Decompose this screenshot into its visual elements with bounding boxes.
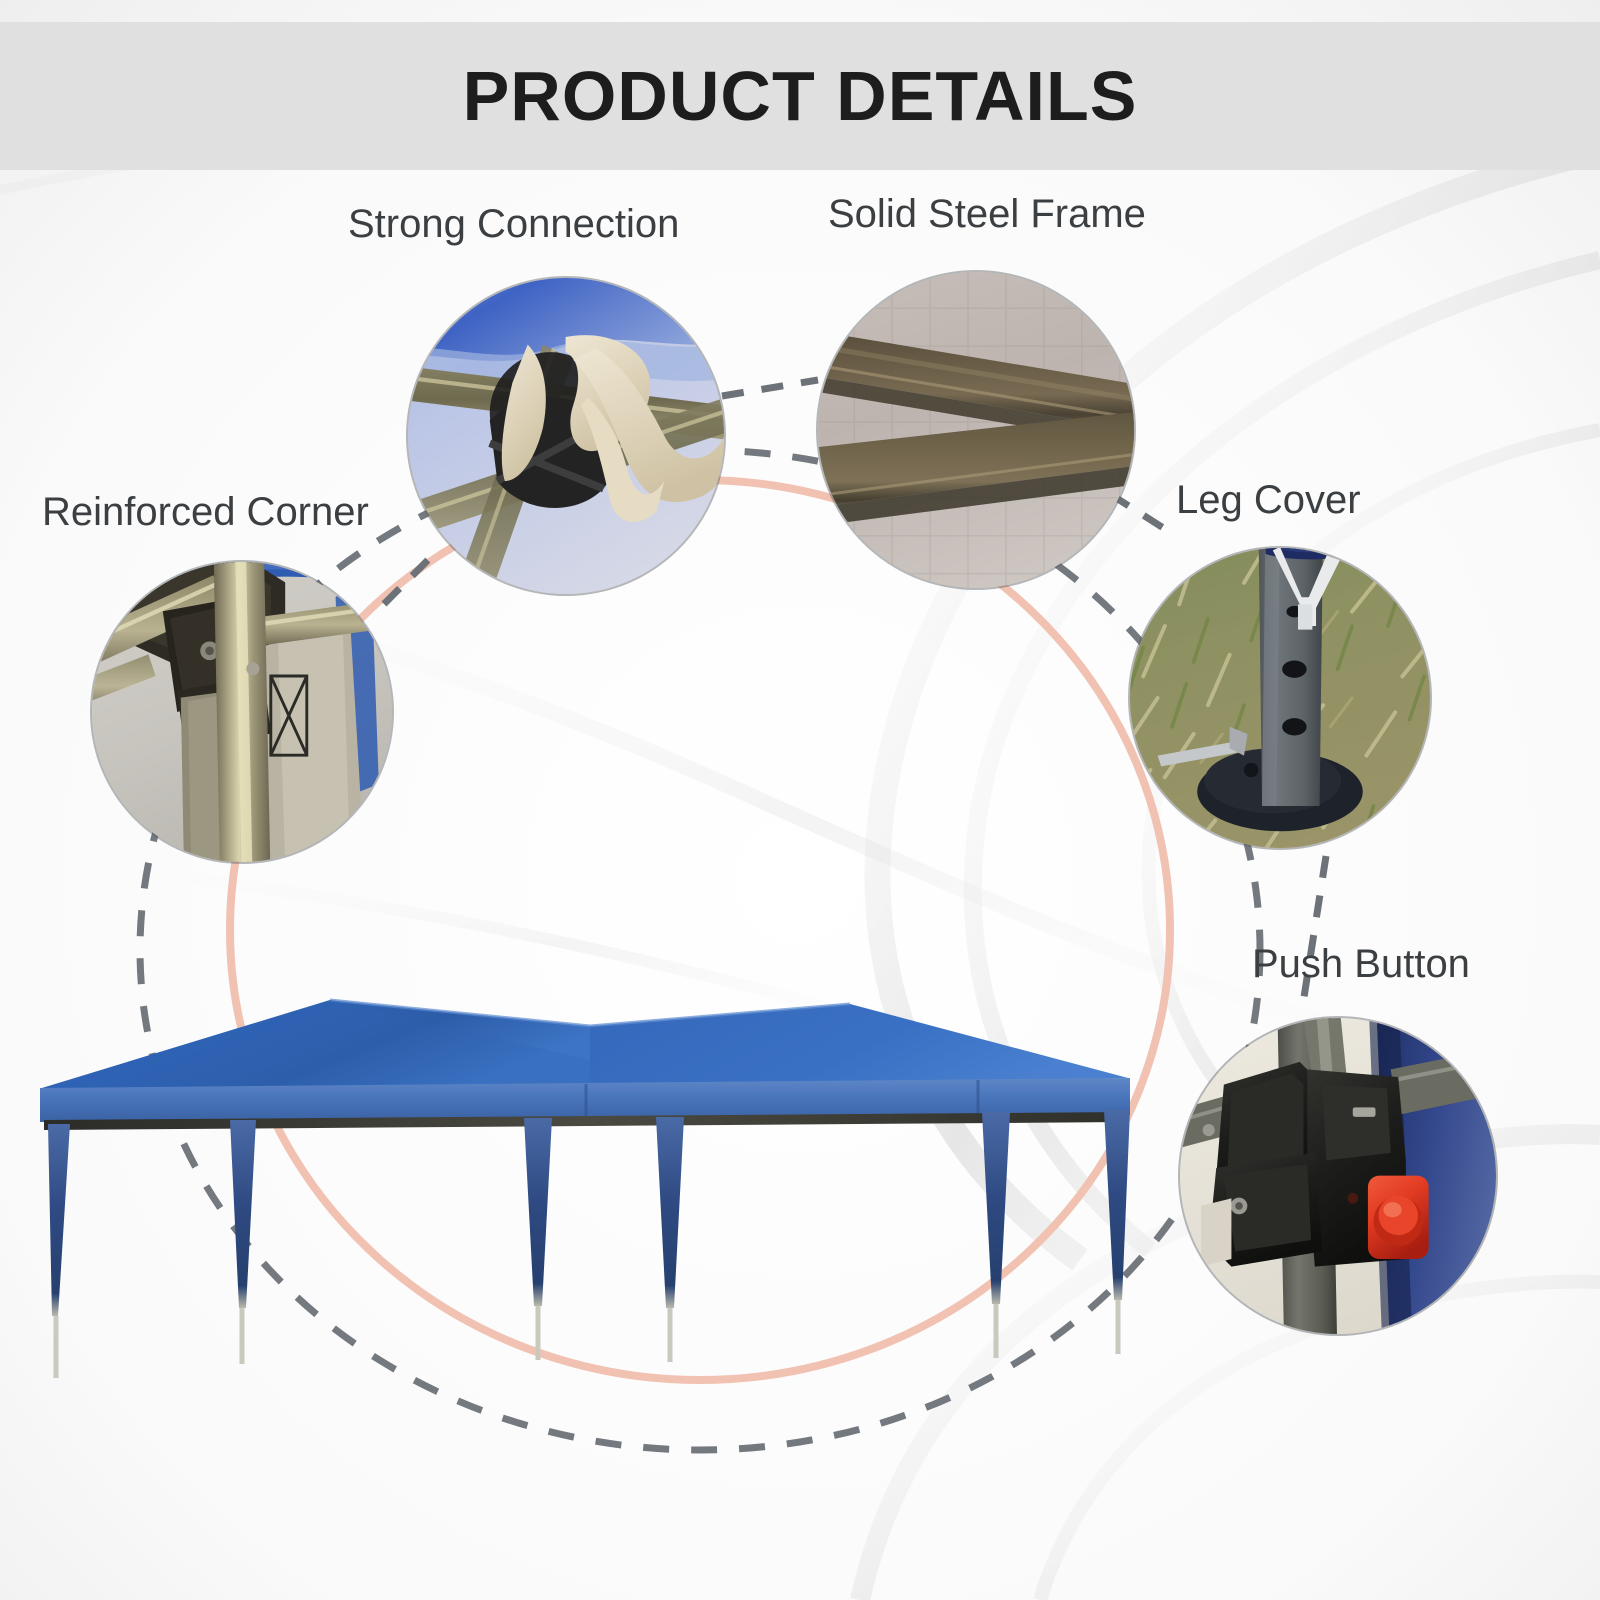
page-title: PRODUCT DETAILS <box>0 22 1600 170</box>
push-button-joint-photo <box>1180 1018 1496 1334</box>
connector-strong-to-steel <box>722 380 818 396</box>
callout-label-push-button: Push Button <box>1252 942 1470 987</box>
callout-label-solid-steel-frame: Solid Steel Frame <box>828 192 1146 237</box>
callout-label-strong-connection: Strong Connection <box>348 202 679 247</box>
steel-frame-bars-photo <box>818 272 1134 588</box>
hub-joint-with-straps-photo <box>408 278 724 594</box>
product-details-infographic: PRODUCT DETAILS <box>0 0 1600 1600</box>
inset-push-button <box>1180 1018 1496 1334</box>
inset-leg-cover <box>1130 548 1430 848</box>
product-image-canopy-tent <box>30 960 1140 1430</box>
inset-reinforced-corner <box>92 562 392 862</box>
inset-strong-connection <box>408 278 724 594</box>
leg-cover-on-grass-photo <box>1130 548 1430 848</box>
corner-bracket-photo <box>92 562 392 862</box>
inset-solid-steel-frame <box>818 272 1134 588</box>
callout-label-reinforced-corner: Reinforced Corner <box>42 490 369 535</box>
callout-label-leg-cover: Leg Cover <box>1176 478 1361 523</box>
